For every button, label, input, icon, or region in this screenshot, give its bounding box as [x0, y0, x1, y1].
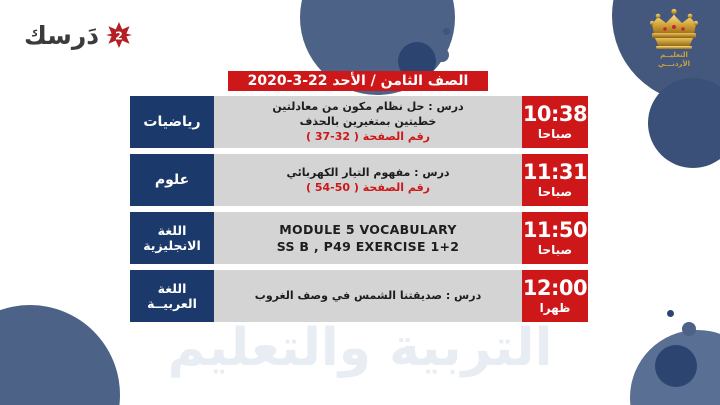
lesson-description-cell: MODULE 5 VOCABULARYSS B , P49 EXERCISE 1…: [214, 212, 522, 264]
darsak-logo: دَرسك 2: [24, 22, 132, 48]
time-value: 12:00: [523, 278, 587, 299]
page-number-line: رقم الصفحة ( 32-37 ): [306, 130, 430, 144]
subject-cell: اللغةالعربيــة: [130, 270, 214, 322]
time-value: 10:38: [523, 104, 587, 125]
time-cell: 11:31صباحا: [522, 154, 588, 206]
subject-cell: اللغةالانجليزية: [130, 212, 214, 264]
time-period: ظهرا: [540, 302, 571, 314]
lesson-description-line: درس : مفهوم التيار الكهربائي: [286, 166, 449, 180]
decorative-dot: [443, 28, 450, 35]
subject-cell: رياضيات: [130, 96, 214, 148]
emblem-line-1: التعليــم: [640, 51, 708, 59]
page-number-line: رقم الصفحة ( 50-54 ): [306, 181, 430, 195]
ministry-emblem: التعليــم الأردنـــي: [640, 8, 708, 80]
time-cell: 11:50صباحا: [522, 212, 588, 264]
eight-point-star-icon: 2: [106, 22, 132, 48]
emblem-line-2: الأردنـــي: [640, 60, 708, 68]
decorative-circle: [655, 345, 697, 387]
decorative-dot: [667, 310, 674, 317]
schedule-row: 10:38صباحادرس : حل نظام مكون من معادلتين…: [130, 96, 588, 148]
time-cell: 12:00ظهرا: [522, 270, 588, 322]
schedule-row: 11:31صباحادرس : مفهوم التيار الكهربائيرق…: [130, 154, 588, 206]
decorative-circle: [630, 330, 720, 405]
decorative-circle: [648, 78, 720, 168]
subject-cell: علوم: [130, 154, 214, 206]
schedule-table: 10:38صباحادرس : حل نظام مكون من معادلتين…: [130, 96, 588, 322]
schedule-row: 12:00ظهرادرس : صديقتنا الشمس في وصف الغر…: [130, 270, 588, 322]
decorative-dot: [435, 48, 449, 62]
time-value: 11:31: [523, 162, 587, 183]
time-period: صباحا: [538, 186, 572, 198]
subject-label: العربيــة: [147, 296, 197, 311]
brand-wordmark: دَرسك: [24, 23, 99, 48]
lesson-description-line: خطيتين بمتغيرين بالحذف: [300, 115, 437, 129]
watermark-text: التربية والتعليم: [0, 318, 720, 378]
lesson-description-cell: درس : حل نظام مكون من معادلتينخطيتين بمت…: [214, 96, 522, 148]
lesson-description-line: درس : صديقتنا الشمس في وصف الغروب: [255, 289, 481, 303]
subject-label: الانجليزية: [143, 238, 201, 253]
lesson-description-line: درس : حل نظام مكون من معادلتين: [272, 100, 463, 114]
schedule-poster: التربية والتعليم دَرسك 2: [0, 0, 720, 405]
hashemite-crown-icon: [646, 8, 702, 50]
lesson-description-cell: درس : مفهوم التيار الكهربائيرقم الصفحة (…: [214, 154, 522, 206]
subject-label: اللغة: [158, 281, 187, 296]
time-period: صباحا: [538, 244, 572, 256]
lesson-description-cell: درس : صديقتنا الشمس في وصف الغروب: [214, 270, 522, 322]
lesson-description-line: SS B , P49 EXERCISE 1+2: [277, 239, 460, 255]
subject-label: رياضيات: [143, 114, 200, 131]
svg-text:2: 2: [115, 30, 123, 43]
header-title-bar: الصف الثامن / الأحد 22-3-2020: [228, 71, 488, 91]
time-cell: 10:38صباحا: [522, 96, 588, 148]
time-value: 11:50: [523, 220, 587, 241]
subject-label: اللغة: [158, 223, 187, 238]
lesson-description-line: MODULE 5 VOCABULARY: [279, 222, 456, 238]
time-period: صباحا: [538, 128, 572, 140]
subject-label: علوم: [155, 172, 189, 189]
decorative-dot: [682, 322, 696, 336]
decorative-circle: [0, 305, 120, 405]
schedule-row: 11:50صباحاMODULE 5 VOCABULARYSS B , P49 …: [130, 212, 588, 264]
